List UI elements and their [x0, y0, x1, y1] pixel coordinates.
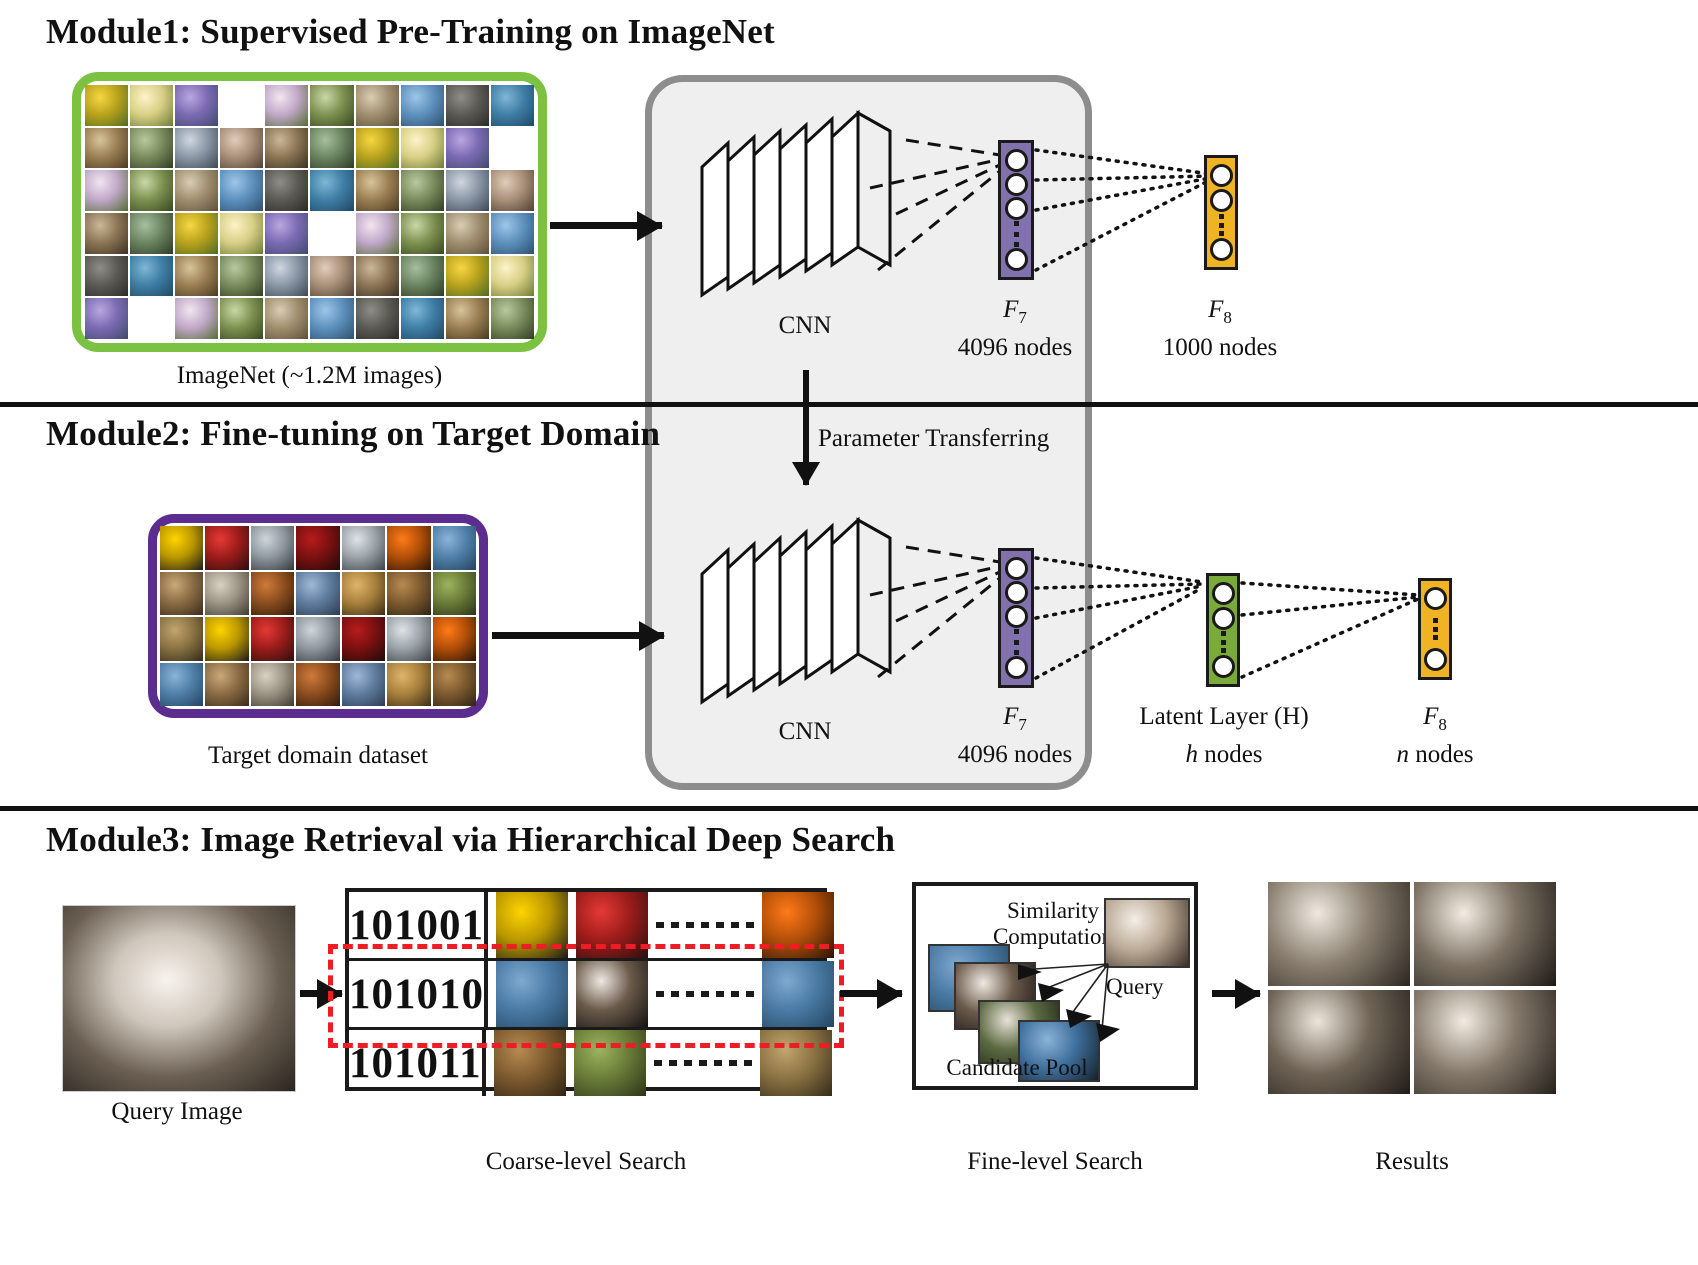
mosaic-tile	[160, 526, 203, 570]
f8-ellipsis	[1433, 618, 1438, 640]
bucket-thumb	[762, 892, 834, 958]
candidate-pool-label: Candidate Pool	[912, 1055, 1122, 1081]
f8-node	[1210, 164, 1233, 187]
mosaic-tile	[387, 617, 430, 661]
cnn-label-module1: CNN	[730, 312, 880, 340]
table-row[interactable]: 101010	[349, 961, 823, 1030]
f7-node	[1005, 248, 1028, 271]
mosaic-tile	[491, 213, 534, 254]
binary-code-cell: 101010	[349, 961, 488, 1027]
mosaic-tile	[310, 298, 353, 339]
module1-title: Module1: Supervised Pre-Training on Imag…	[46, 12, 775, 52]
latent-node	[1212, 655, 1235, 678]
f8-label-module2: F8	[1370, 703, 1500, 735]
coarse-search-caption: Coarse-level Search	[345, 1148, 827, 1176]
mosaic-tile	[220, 256, 263, 297]
f7-to-latent-links	[1034, 548, 1206, 698]
mosaic-tile	[491, 256, 534, 297]
table-row[interactable]: 101011	[349, 1030, 823, 1096]
mosaic-tile	[160, 617, 203, 661]
mosaic-tile	[310, 256, 353, 297]
mosaic-tile	[175, 298, 218, 339]
mosaic-tile	[356, 213, 399, 254]
module2-title: Module2: Fine-tuning on Target Domain	[46, 414, 660, 454]
mosaic-tile	[433, 526, 476, 570]
mosaic-tile	[205, 663, 248, 707]
bucket-ellipsis	[656, 922, 754, 928]
mosaic-tile	[205, 617, 248, 661]
f8-ellipsis	[1219, 214, 1224, 236]
bucket-images	[486, 1030, 840, 1096]
bucket-thumb	[574, 1030, 646, 1096]
divider-module2-module3	[0, 806, 1698, 811]
mosaic-tile	[265, 298, 308, 339]
mosaic-tile	[85, 213, 128, 254]
bucket-images	[488, 961, 842, 1027]
mosaic-tile	[491, 298, 534, 339]
mosaic-tile	[85, 128, 128, 169]
latent-nodes-label: h nodes	[1118, 741, 1330, 769]
mosaic-tile	[251, 663, 294, 707]
mosaic-tile	[130, 170, 173, 211]
mosaic-tile	[296, 572, 339, 616]
result-image	[1268, 882, 1410, 986]
f7-nodes-module1: 4096 nodes	[950, 334, 1080, 362]
module3-title: Module3: Image Retrieval via Hierarchica…	[46, 820, 895, 860]
mosaic-tile	[175, 85, 218, 126]
mosaic-tile	[205, 572, 248, 616]
bucket-thumb	[496, 892, 568, 958]
f7-layer-module2	[998, 548, 1034, 688]
f8-nodes-module2: n nodes	[1370, 741, 1500, 769]
latent-node	[1212, 582, 1235, 605]
latent-node	[1212, 607, 1235, 630]
mosaic-tile	[205, 526, 248, 570]
mosaic-tile	[265, 256, 308, 297]
bucket-thumb	[576, 892, 648, 958]
target-sample-mosaic	[160, 526, 476, 706]
mosaic-tile	[401, 170, 444, 211]
mosaic-tile	[130, 85, 173, 126]
table-row[interactable]: 101001	[349, 892, 823, 961]
mosaic-tile	[85, 298, 128, 339]
f8-layer-module1	[1204, 155, 1238, 270]
f7-label-module1: F7	[950, 296, 1080, 328]
arrow-query-to-table	[300, 990, 342, 997]
mosaic-tile	[130, 256, 173, 297]
mosaic-tile	[433, 663, 476, 707]
coarse-search-table: 101001101010101011	[345, 888, 827, 1091]
figure-canvas: Module1: Supervised Pre-Training on Imag…	[0, 0, 1698, 1265]
mosaic-tile	[85, 256, 128, 297]
latent-layer	[1206, 573, 1240, 687]
f8-layer-module2	[1418, 578, 1452, 680]
mosaic-tile	[160, 572, 203, 616]
f8-node	[1424, 648, 1447, 671]
mosaic-tile	[342, 526, 385, 570]
bucket-thumb	[762, 961, 834, 1027]
query-image-caption: Query Image	[52, 1098, 302, 1126]
mosaic-tile	[310, 85, 353, 126]
mosaic-tile	[491, 170, 534, 211]
arrow-imagenet-to-cnn	[550, 222, 662, 229]
bucket-ellipsis	[656, 991, 754, 997]
bucket-ellipsis	[654, 1060, 752, 1066]
f8-node	[1210, 238, 1233, 261]
bucket-thumb	[496, 961, 568, 1027]
mosaic-tile	[130, 298, 173, 339]
f8-node	[1424, 587, 1447, 610]
mosaic-tile	[310, 170, 353, 211]
mosaic-tile	[175, 213, 218, 254]
result-image	[1414, 990, 1556, 1094]
bucket-images	[488, 892, 842, 958]
mosaic-tile	[265, 128, 308, 169]
f7-to-f8-links-module1	[1034, 140, 1214, 290]
cnn-to-f7-links-module1	[860, 110, 1020, 300]
mosaic-tile	[296, 617, 339, 661]
mosaic-tile	[342, 617, 385, 661]
mosaic-tile	[387, 572, 430, 616]
mosaic-tile	[491, 128, 534, 169]
mosaic-tile	[342, 663, 385, 707]
mosaic-tile	[220, 213, 263, 254]
mosaic-tile	[387, 526, 430, 570]
mosaic-tile	[433, 572, 476, 616]
f7-node	[1005, 173, 1028, 196]
mosaic-tile	[446, 256, 489, 297]
mosaic-tile	[175, 170, 218, 211]
result-image	[1414, 882, 1556, 986]
mosaic-tile	[401, 256, 444, 297]
mosaic-tile	[446, 298, 489, 339]
bucket-thumb	[494, 1030, 566, 1096]
f7-label-module2: F7	[950, 703, 1080, 735]
cnn-label-module2: CNN	[730, 718, 880, 746]
imagenet-caption: ImageNet (~1.2M images)	[72, 362, 547, 390]
mosaic-tile	[401, 213, 444, 254]
mosaic-tile	[296, 526, 339, 570]
mosaic-tile	[433, 617, 476, 661]
mosaic-tile	[265, 213, 308, 254]
f8-nodes-module1: 1000 nodes	[1150, 334, 1290, 362]
bucket-thumb	[576, 961, 648, 1027]
f7-node	[1005, 656, 1028, 679]
f7-layer-module1	[998, 140, 1034, 280]
fine-search-caption: Fine-level Search	[912, 1148, 1198, 1176]
mosaic-tile	[401, 85, 444, 126]
mosaic-tile	[387, 663, 430, 707]
mosaic-tile	[401, 128, 444, 169]
mosaic-tile	[446, 170, 489, 211]
mosaic-tile	[220, 128, 263, 169]
mosaic-tile	[356, 256, 399, 297]
mosaic-tile	[342, 572, 385, 616]
parameter-transfer-label: Parameter Transferring	[818, 425, 1049, 453]
mosaic-tile	[265, 85, 308, 126]
mosaic-tile	[446, 85, 489, 126]
results-caption: Results	[1268, 1148, 1556, 1176]
f7-node	[1005, 581, 1028, 604]
mosaic-tile	[310, 128, 353, 169]
mosaic-tile	[175, 256, 218, 297]
f7-ellipsis	[1014, 221, 1019, 247]
mosaic-tile	[310, 213, 353, 254]
divider-module1-module2	[0, 402, 1698, 407]
mosaic-tile	[356, 128, 399, 169]
mosaic-tile	[160, 663, 203, 707]
target-dataset-caption: Target domain dataset	[148, 742, 488, 770]
bucket-thumb	[760, 1030, 832, 1096]
f7-ellipsis	[1014, 629, 1019, 655]
mosaic-tile	[265, 170, 308, 211]
mosaic-tile	[356, 170, 399, 211]
mosaic-tile	[85, 170, 128, 211]
arrow-target-to-cnn	[492, 632, 664, 639]
mosaic-tile	[446, 128, 489, 169]
mosaic-tile	[491, 85, 534, 126]
mosaic-tile	[251, 572, 294, 616]
latent-ellipsis	[1221, 631, 1226, 653]
latent-layer-label: Latent Layer (H)	[1118, 703, 1330, 731]
similarity-arrows	[980, 930, 1190, 1050]
query-image	[62, 905, 296, 1092]
f7-node	[1005, 149, 1028, 172]
mosaic-tile	[401, 298, 444, 339]
mosaic-tile	[356, 298, 399, 339]
cnn-to-f7-links-module2	[860, 517, 1020, 707]
binary-code-cell: 101011	[349, 1030, 486, 1096]
result-image	[1268, 990, 1410, 1094]
mosaic-tile	[296, 663, 339, 707]
mosaic-tile	[251, 526, 294, 570]
mosaic-tile	[220, 85, 263, 126]
mosaic-tile	[356, 85, 399, 126]
arrow-table-to-fine	[840, 990, 902, 997]
mosaic-tile	[85, 85, 128, 126]
mosaic-tile	[446, 213, 489, 254]
binary-code-cell: 101001	[349, 892, 488, 958]
mosaic-tile	[130, 213, 173, 254]
f7-node	[1005, 605, 1028, 628]
f7-node	[1005, 557, 1028, 580]
mosaic-tile	[251, 617, 294, 661]
arrow-fine-to-results	[1212, 990, 1260, 997]
imagenet-sample-mosaic	[85, 85, 534, 339]
mosaic-tile	[220, 298, 263, 339]
mosaic-tile	[220, 170, 263, 211]
f7-node	[1005, 197, 1028, 220]
latent-to-f8-links	[1240, 573, 1422, 703]
f8-node	[1210, 189, 1233, 212]
f7-nodes-module2: 4096 nodes	[950, 741, 1080, 769]
mosaic-tile	[130, 128, 173, 169]
parameter-transfer-arrow	[803, 370, 809, 485]
f8-label-module1: F8	[1155, 296, 1285, 328]
mosaic-tile	[175, 128, 218, 169]
